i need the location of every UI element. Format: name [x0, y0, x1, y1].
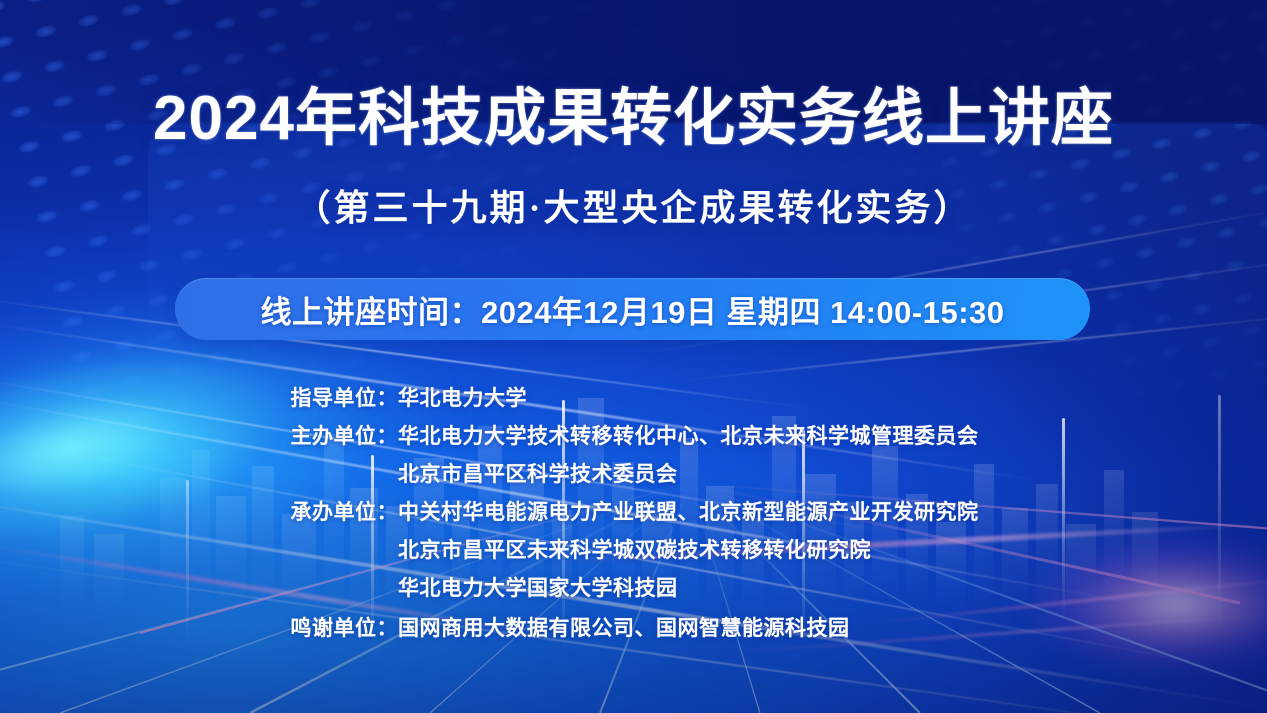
org-value-acknowledgement: 国网商用大数据有限公司、国网智慧能源科技园	[398, 612, 850, 642]
org-value-organizer-cont-1: 北京市昌平区未来科学城双碳技术转移转化研究院	[398, 534, 871, 564]
org-label-organizer: 承办单位：	[0, 496, 398, 526]
page-subtitle: （第三十九期·大型央企成果转化实务）	[0, 190, 1267, 226]
org-label-guidance: 指导单位：	[0, 382, 398, 412]
lecture-time-banner: 线上讲座时间：2024年12月19日 星期四 14:00-15:30	[175, 278, 1090, 340]
conference-poster: 2024年科技成果转化实务线上讲座 （第三十九期·大型央企成果转化实务） 线上讲…	[0, 0, 1267, 713]
org-value-host-cont: 北京市昌平区科学技术委员会	[398, 458, 678, 488]
organizations-list: 指导单位： 华北电力大学 主办单位： 华北电力大学技术转移转化中心、北京未来科学…	[0, 382, 1267, 650]
org-label-host: 主办单位：	[0, 420, 398, 450]
org-label-acknowledgement: 鸣谢单位：	[0, 612, 398, 642]
org-value-host: 华北电力大学技术转移转化中心、北京未来科学城管理委员会	[398, 420, 979, 450]
page-title: 2024年科技成果转化实务线上讲座	[0, 88, 1267, 150]
poster-content: 2024年科技成果转化实务线上讲座 （第三十九期·大型央企成果转化实务） 线上讲…	[0, 0, 1267, 713]
org-row-host-cont: 北京市昌平区科学技术委员会	[0, 458, 1267, 496]
org-row-acknowledgement: 鸣谢单位： 国网商用大数据有限公司、国网智慧能源科技园	[0, 612, 1267, 650]
org-value-organizer-cont-2: 华北电力大学国家大学科技园	[398, 572, 678, 602]
org-value-guidance: 华北电力大学	[398, 382, 527, 412]
org-row-host: 主办单位： 华北电力大学技术转移转化中心、北京未来科学城管理委员会	[0, 420, 1267, 458]
lecture-time-text: 线上讲座时间：2024年12月19日 星期四 14:00-15:30	[260, 287, 1004, 332]
org-row-organizer-cont-1: 北京市昌平区未来科学城双碳技术转移转化研究院	[0, 534, 1267, 572]
org-row-organizer-cont-2: 华北电力大学国家大学科技园	[0, 572, 1267, 610]
org-value-organizer: 中关村华电能源电力产业联盟、北京新型能源产业开发研究院	[398, 496, 979, 526]
org-row-organizer: 承办单位： 中关村华电能源电力产业联盟、北京新型能源产业开发研究院	[0, 496, 1267, 534]
org-row-guidance: 指导单位： 华北电力大学	[0, 382, 1267, 420]
